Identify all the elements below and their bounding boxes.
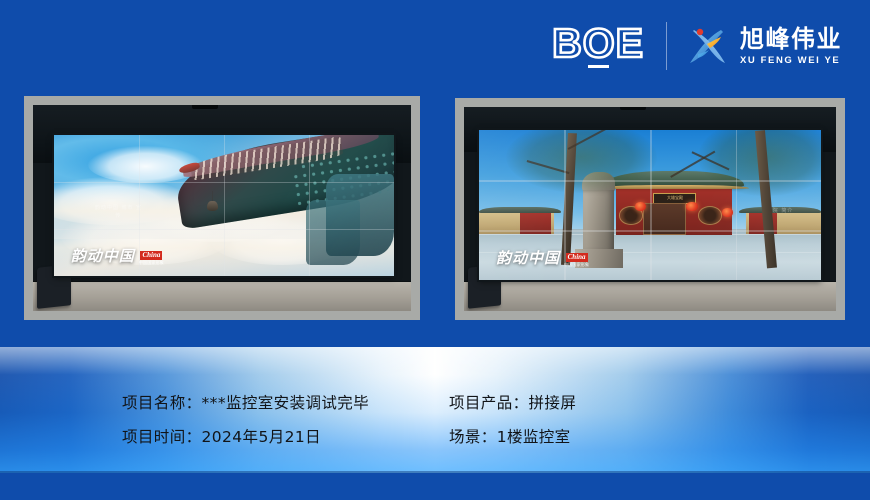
video-wall-left: 韵动中国 城市 宣传 韵动中国 China 中国国家形象 <box>54 135 394 276</box>
watermark-badge: China 中国国家形象 <box>139 251 164 265</box>
project-name-label: 项目名称： <box>122 394 202 412</box>
watermark-badge-top: China <box>566 253 588 262</box>
watermark-badge-bottom: 中国国家形象 <box>564 262 589 267</box>
watermark-badge: China 中国国家形象 <box>564 253 589 267</box>
scene-label: 场景： <box>449 428 497 446</box>
project-product-label: 项目产品： <box>449 394 529 412</box>
boe-underline-bar <box>588 65 609 68</box>
boe-logo: BOE <box>552 24 666 69</box>
partner-logo: 旭峰伟业 XU FENG WEI YE <box>685 24 842 68</box>
project-info-grid: 项目名称：***监控室安装调试完毕 项目产品：拼接屏 项目时间：2024年5月2… <box>0 347 870 473</box>
boe-wordmark: BOE <box>552 24 644 63</box>
side-wall-red-left <box>520 211 551 233</box>
project-info-panel: 项目名称：***监控室安装调试完毕 项目产品：拼接屏 项目时间：2024年5月2… <box>0 347 870 473</box>
watermark-badge-bottom: 中国国家形象 <box>139 260 164 265</box>
project-time-label: 项目时间： <box>122 428 202 446</box>
scene-value: 1楼监控室 <box>497 428 571 446</box>
hanging-bell <box>207 191 218 211</box>
ceiling-vent <box>192 105 218 109</box>
wall-seam <box>464 281 836 282</box>
watermark-right: 韵动中国 China 中国国家形象 <box>496 247 589 268</box>
info-row-project-time: 项目时间：2024年5月21日 <box>0 425 435 447</box>
brand-bar: BOE <box>552 18 842 74</box>
info-row-project-product: 项目产品：拼接屏 <box>435 391 870 413</box>
monitoring-room-left: 韵动中国 城市 宣传 韵动中国 China 中国国家形象 <box>33 105 411 311</box>
watermark-chinese: 韵动中国 <box>496 247 560 268</box>
red-lantern <box>686 202 698 211</box>
side-roof-left <box>479 207 561 213</box>
photo-card-left[interactable]: 韵动中国 城市 宣传 韵动中国 China 中国国家形象 <box>24 96 420 320</box>
bell-body <box>207 201 218 211</box>
panel-bottom-edge <box>0 471 870 473</box>
eave-side-figures <box>306 200 360 265</box>
wall-seam <box>33 281 411 282</box>
watermark-chinese: 韵动中国 <box>71 245 135 266</box>
info-row-scene: 场景：1楼监控室 <box>435 425 870 447</box>
info-row-project-name: 项目名称：***监控室安装调试完毕 <box>0 391 435 413</box>
round-window <box>698 206 722 224</box>
lower-wall <box>33 282 411 311</box>
wall-content-right: 大雄宝殿 <box>479 130 821 280</box>
partner-pinyin: XU FENG WEI YE <box>740 56 842 66</box>
video-wall-right: 大雄宝殿 <box>479 130 821 280</box>
slide-canvas: BOE <box>0 0 870 500</box>
project-name-value: ***监控室安装调试完毕 <box>202 394 370 412</box>
monitoring-room-right: 大雄宝殿 <box>464 107 836 311</box>
wall-content-left: 韵动中国 城市 宣传 韵动中国 China 中国国家形象 <box>54 135 394 276</box>
bell-cord <box>212 191 213 201</box>
project-time-value: 2024年5月21日 <box>202 428 322 446</box>
project-product-value: 拼接屏 <box>529 394 577 412</box>
watermark-left: 韵动中国 China 中国国家形象 <box>71 245 164 266</box>
faint-overlay-text: 韵动中国 城市 宣传 <box>95 205 143 220</box>
ceiling-vent <box>620 107 646 110</box>
temple-door <box>643 203 686 235</box>
watermark-badge-top: China <box>140 251 162 260</box>
brand-divider <box>666 22 667 70</box>
xufeng-bird-mark-icon <box>685 24 731 68</box>
pillar-shaft <box>583 190 614 253</box>
partner-name-block: 旭峰伟业 XU FENG WEI YE <box>740 27 842 66</box>
partner-chinese-name: 旭峰伟业 <box>740 27 842 51</box>
photo-card-right[interactable]: 大雄宝殿 <box>455 98 845 320</box>
lower-wall <box>464 282 836 311</box>
